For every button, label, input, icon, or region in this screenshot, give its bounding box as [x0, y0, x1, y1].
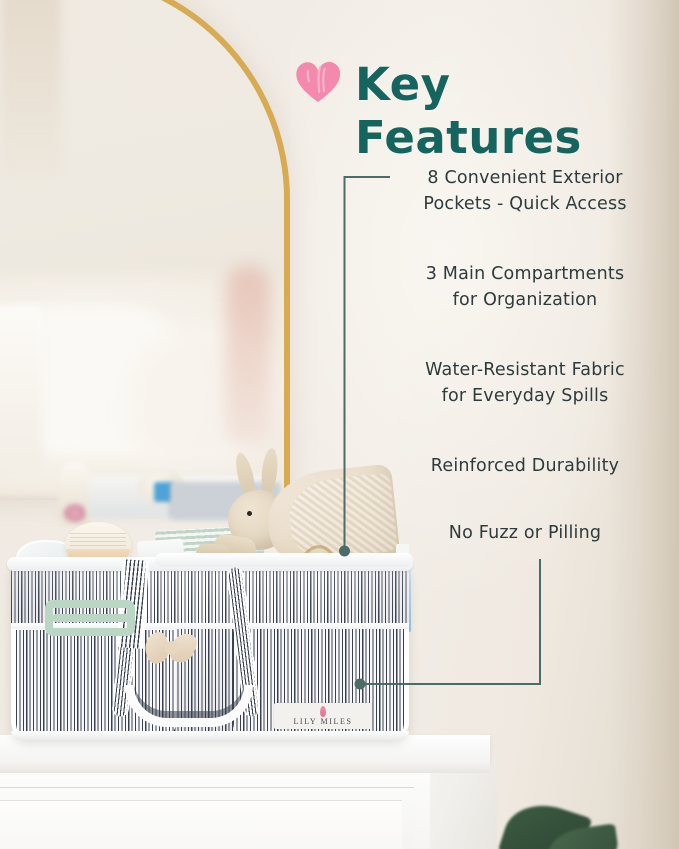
dresser-drawer: [0, 787, 414, 849]
feature-item-water-resistant: Water-Resistant Fabric for Everyday Spil…: [380, 357, 670, 409]
caddy-base-trim: [11, 731, 409, 740]
feature-line-1: Water-Resistant Fabric: [425, 360, 625, 380]
fabric-bow-accent: [145, 631, 197, 665]
reflected-lamp: [0, 305, 43, 468]
feature-line-1: No Fuzz or Pilling: [449, 523, 601, 543]
mirror-reflection: [0, 0, 284, 500]
feature-line-2: for Everyday Spills: [380, 383, 670, 409]
feature-item-main-compartments: 3 Main Compartments for Organization: [380, 261, 670, 313]
arched-gold-mirror: [0, 0, 290, 500]
white-dresser: [0, 735, 490, 849]
brand-mark-icon: [320, 706, 326, 717]
background-flower: [64, 504, 86, 522]
pink-heart-icon: [294, 58, 342, 104]
feature-line-1: 8 Convenient Exterior: [427, 168, 622, 188]
lotion-label-text: [70, 530, 126, 546]
page-title: Key Features: [355, 58, 679, 164]
feature-item-exterior-pockets: 8 Convenient Exterior Pockets - Quick Ac…: [380, 165, 670, 217]
brand-label: LILY MILES: [274, 703, 372, 729]
product-feature-infographic: LILY MILES Key Features 8 Convenient Ext…: [0, 0, 679, 849]
brand-label-text: LILY MILES: [293, 717, 352, 726]
feature-line-2: Pockets - Quick Access: [380, 191, 670, 217]
green-teething-toy-bar: [52, 614, 130, 622]
feature-line-1: 3 Main Compartments: [426, 264, 625, 284]
bunny-eye: [247, 511, 252, 516]
feature-line-1: Reinforced Durability: [431, 456, 619, 476]
feature-item-no-fuzz: No Fuzz or Pilling: [380, 520, 670, 546]
feature-line-2: for Organization: [380, 287, 670, 313]
caddy-rim-rear: [155, 553, 413, 567]
feature-item-reinforced-durability: Reinforced Durability: [380, 453, 670, 479]
